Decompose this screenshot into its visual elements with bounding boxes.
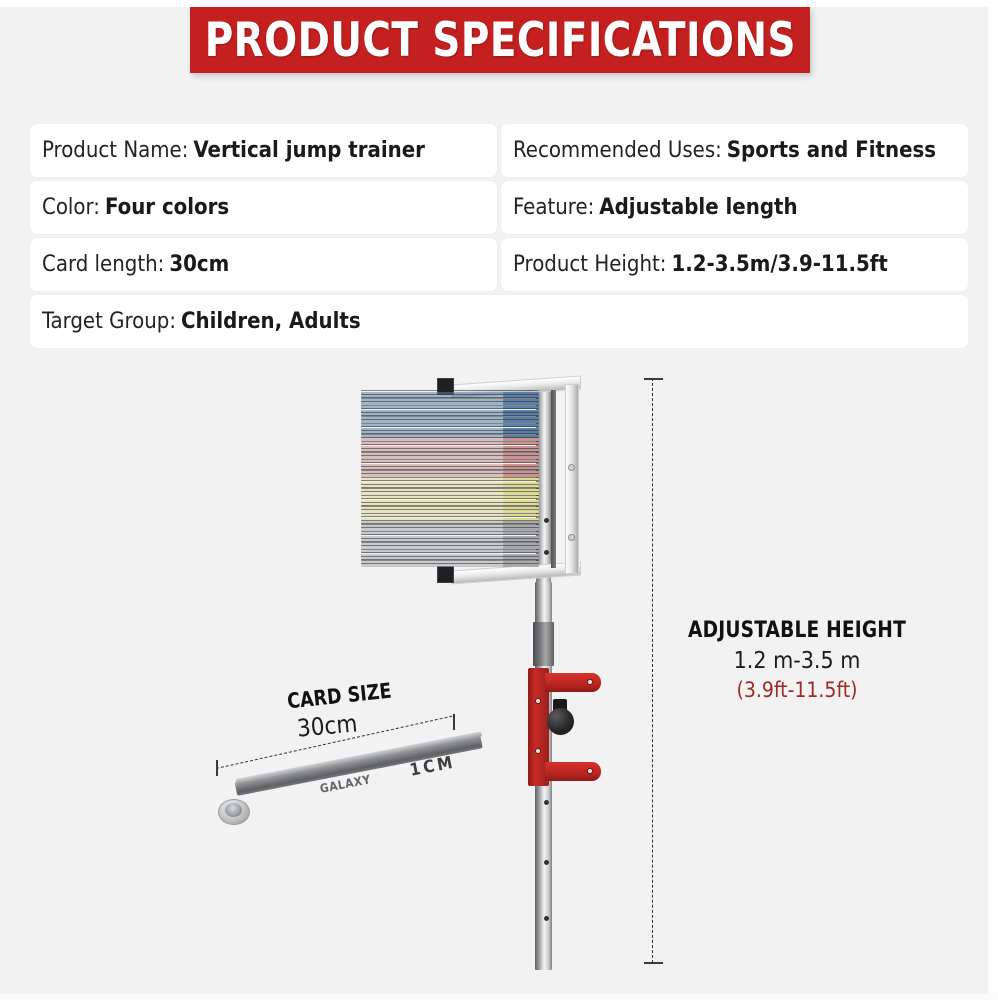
color-card-slat-shadow bbox=[361, 541, 539, 542]
product-spec-infographic: PRODUCT SPECIFICATIONS Product Name: Ver… bbox=[0, 0, 998, 1000]
adjustable-height-metric: 1.2 m-3.5 m bbox=[672, 648, 922, 674]
color-card-slat-shadow bbox=[361, 495, 539, 496]
color-card-slat-shadow bbox=[361, 509, 539, 510]
color-card-slat-shadow bbox=[361, 477, 539, 478]
spec-label: Product Height: bbox=[513, 252, 666, 277]
color-card-slat-shadow bbox=[361, 473, 539, 474]
color-card-slat-tip-grey bbox=[503, 564, 539, 567]
color-card-slat-shadow bbox=[361, 556, 539, 557]
color-card-slat-shadow bbox=[361, 563, 539, 564]
spec-label: Target Group: bbox=[42, 309, 176, 334]
color-card-stack bbox=[355, 390, 541, 570]
pole-hole bbox=[544, 518, 549, 523]
spec-cell-feature: Feature: Adjustable length bbox=[501, 181, 968, 234]
table-row: Card length: 30cm Product Height: 1.2-3.… bbox=[30, 238, 968, 291]
color-card-slat-shadow bbox=[361, 531, 539, 532]
specification-table: Product Name: Vertical jump trainer Reco… bbox=[30, 124, 968, 352]
bracket-bolt bbox=[587, 768, 593, 774]
spec-cell-color: Color: Four colors bbox=[30, 181, 497, 234]
bracket-bolt bbox=[587, 679, 593, 685]
header-banner: PRODUCT SPECIFICATIONS bbox=[190, 7, 810, 73]
spec-value: Adjustable length bbox=[599, 195, 797, 220]
color-card-slat-shadow bbox=[361, 538, 539, 539]
pole-adjustment-collar bbox=[533, 622, 554, 666]
spec-label: Feature: bbox=[513, 195, 594, 220]
color-card-slat-shadow bbox=[361, 505, 539, 506]
measuring-card: 1CM GALAXY bbox=[218, 760, 486, 830]
color-card-slat-shadow bbox=[361, 549, 539, 550]
color-card-slat-shadow bbox=[361, 441, 539, 442]
pole-hole bbox=[544, 800, 549, 805]
color-card-slat-shadow bbox=[361, 430, 539, 431]
color-card-slat-shadow bbox=[361, 401, 539, 402]
bracket-locking-knob bbox=[547, 708, 574, 735]
frame-knob bbox=[568, 464, 575, 471]
color-card-slat-shadow bbox=[361, 415, 539, 416]
pole-hole bbox=[544, 916, 549, 921]
color-card-slat-shadow bbox=[361, 423, 539, 424]
measuring-card-endcap-inner bbox=[225, 803, 242, 817]
spec-cell-product-height: Product Height: 1.2-3.5m/3.9-11.5ft bbox=[501, 238, 968, 291]
frame-knob bbox=[568, 534, 575, 541]
spec-cell-card-length: Card length: 30cm bbox=[30, 238, 497, 291]
color-card-slat-shadow bbox=[361, 513, 539, 514]
color-card-slat-shadow bbox=[361, 523, 539, 524]
color-card-slat-shadow bbox=[361, 545, 539, 546]
spec-value: 1.2-3.5m/3.9-11.5ft bbox=[671, 252, 887, 277]
color-card-slat-shadow bbox=[361, 412, 539, 413]
adjustable-height-annotation: ADJUSTABLE HEIGHT 1.2 m-3.5 m (3.9ft-11.… bbox=[672, 618, 922, 702]
spec-cell-product-name: Product Name: Vertical jump trainer bbox=[30, 124, 497, 177]
color-card-slat-shadow bbox=[361, 451, 539, 452]
adjustable-height-title: ADJUSTABLE HEIGHT bbox=[680, 618, 915, 643]
color-card-slat-shadow bbox=[361, 491, 539, 492]
color-card-slat-shadow bbox=[361, 484, 539, 485]
bracket-bolt bbox=[535, 698, 541, 704]
color-card-slat-shadow bbox=[361, 487, 539, 488]
color-card-slat-shadow bbox=[361, 455, 539, 456]
color-card-slat-shadow bbox=[361, 459, 539, 460]
spec-value: 30cm bbox=[169, 252, 229, 277]
frame-inner-bar bbox=[551, 390, 556, 568]
color-card-slat-shadow bbox=[361, 437, 539, 438]
spec-value: Four colors bbox=[105, 195, 229, 220]
spec-cell-target-group: Target Group: Children, Adults bbox=[30, 295, 968, 348]
color-card-slat-shadow bbox=[361, 469, 539, 470]
dimension-cap-bottom bbox=[644, 962, 663, 964]
color-card-slat-shadow bbox=[361, 466, 539, 467]
adjustable-height-imperial: (3.9ft-11.5ft) bbox=[672, 678, 922, 702]
card-dimension-cap-right bbox=[453, 714, 455, 730]
spec-cell-recommended-uses: Recommended Uses: Sports and Fitness bbox=[501, 124, 968, 177]
frame-right-rail bbox=[565, 384, 579, 574]
color-card-slat-shadow bbox=[361, 394, 539, 395]
spec-value: Children, Adults bbox=[181, 309, 361, 334]
dimension-cap-top bbox=[644, 378, 663, 380]
height-dimension-line bbox=[652, 378, 654, 963]
color-card-slat-shadow bbox=[361, 405, 539, 406]
color-card-slat-shadow bbox=[361, 520, 539, 521]
spec-label: Recommended Uses: bbox=[513, 138, 722, 163]
color-card-slat-shadow bbox=[361, 559, 539, 560]
spec-value: Sports and Fitness bbox=[727, 138, 936, 163]
spec-label: Color: bbox=[42, 195, 100, 220]
spec-value: Vertical jump trainer bbox=[193, 138, 425, 163]
color-card-slat-shadow bbox=[361, 433, 539, 434]
table-row: Color: Four colors Feature: Adjustable l… bbox=[30, 181, 968, 234]
color-card-slat-shadow bbox=[361, 419, 539, 420]
spec-label: Card length: bbox=[42, 252, 164, 277]
table-row: Target Group: Children, Adults bbox=[30, 295, 968, 348]
bottom-margin-strip bbox=[0, 994, 998, 1000]
right-margin-strip bbox=[988, 0, 998, 1000]
color-card-slat-shadow bbox=[361, 502, 539, 503]
color-card-slat-shadow bbox=[361, 527, 539, 528]
pole-hole bbox=[544, 550, 549, 555]
color-card-slat-shadow bbox=[361, 448, 539, 449]
top-margin-strip bbox=[0, 0, 998, 7]
page-title: PRODUCT SPECIFICATIONS bbox=[204, 17, 795, 64]
bracket-bolt bbox=[535, 748, 541, 754]
spec-label: Product Name: bbox=[42, 138, 188, 163]
vertical-jump-trainer-device bbox=[355, 368, 615, 968]
table-row: Product Name: Vertical jump trainer Reco… bbox=[30, 124, 968, 177]
color-card-slat-shadow bbox=[361, 397, 539, 398]
wall-mount-bracket bbox=[523, 668, 615, 786]
pole-hole bbox=[544, 860, 549, 865]
